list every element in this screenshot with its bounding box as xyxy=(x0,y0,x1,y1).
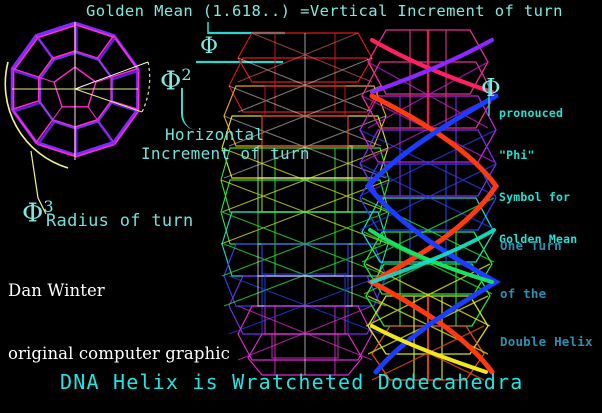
dodecahedron-axial-view xyxy=(5,22,149,214)
double-helix-dodecahedra-stack xyxy=(360,30,496,380)
one-turn-line-1: One Turn xyxy=(500,238,593,254)
label-horizontal-line1: Horizontal xyxy=(165,125,310,144)
phi-glyph: Φ xyxy=(22,199,43,229)
one-turn-line-2: of the xyxy=(500,286,593,302)
radius-arc xyxy=(5,62,68,214)
one-turn-line-3: Double Helix xyxy=(500,334,593,350)
label-radius-of-turn: Radius of turn xyxy=(46,212,194,231)
credit-block: Dan Winter original computer graphic see… xyxy=(8,238,230,413)
phi-squared-brace xyxy=(181,88,197,130)
phi-note-line-3: Symbol for xyxy=(499,190,577,204)
label-horizontal-increment: HorizontalIncrement of turn xyxy=(141,125,310,163)
label-horizontal-line2: Increment of turn xyxy=(141,144,310,163)
phi-squared-exponent: 2 xyxy=(181,65,191,84)
phi-symbol-legend: Φ xyxy=(481,76,501,100)
phi-glyph: Φ xyxy=(160,67,181,97)
phi-symbol-vertical: Φ xyxy=(200,36,218,58)
credit-see-label: see: xyxy=(8,406,230,413)
page-title-top: Golden Mean (1.618..) =Vertical Incremen… xyxy=(86,2,563,20)
phi-note-line-1: pronouced xyxy=(499,106,577,120)
credit-author: Dan Winter xyxy=(8,280,230,301)
illustration-canvas: Golden Mean (1.618..) =Vertical Incremen… xyxy=(0,0,602,413)
credit-description: original computer graphic xyxy=(8,343,230,364)
label-one-turn: One Turn of the Double Helix xyxy=(500,206,593,382)
phi-note-line-2: "Phi" xyxy=(499,148,577,162)
